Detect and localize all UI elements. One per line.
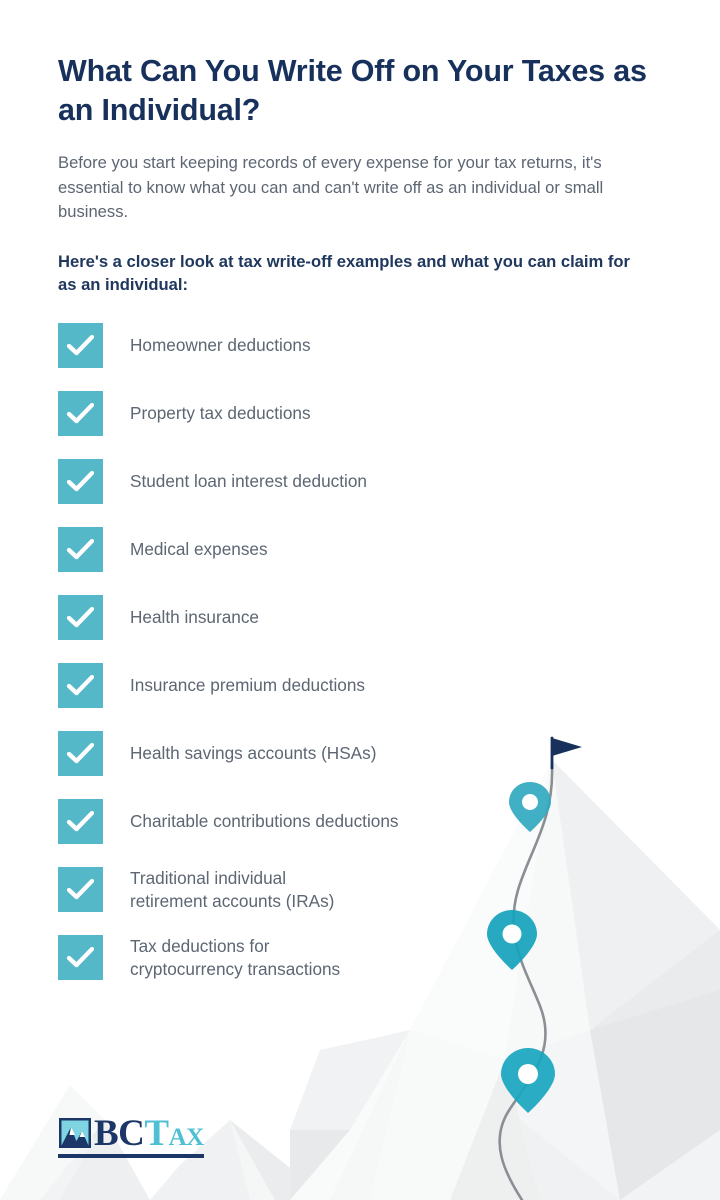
list-item: Insurance premium deductions <box>58 663 662 709</box>
check-icon <box>58 731 103 776</box>
check-icon <box>58 935 103 980</box>
list-item: Traditional individual retirement accoun… <box>58 867 662 913</box>
check-icon <box>58 323 103 368</box>
list-item-label: Traditional individual retirement accoun… <box>130 867 334 913</box>
list-item-label: Medical expenses <box>130 538 268 561</box>
list-item-label: Property tax deductions <box>130 402 311 425</box>
check-icon <box>58 527 103 572</box>
main-content: What Can You Write Off on Your Taxes as … <box>0 0 720 981</box>
check-icon <box>58 459 103 504</box>
check-icon <box>58 867 103 912</box>
check-icon <box>58 391 103 436</box>
logo-text-t: T <box>144 1116 168 1151</box>
check-icon <box>58 595 103 640</box>
page-title: What Can You Write Off on Your Taxes as … <box>58 52 662 129</box>
lead-in-text: Here's a closer look at tax write-off ex… <box>58 250 633 297</box>
list-item-label: Tax deductions for cryptocurrency transa… <box>130 935 340 981</box>
logo-text-ax: AX <box>169 1126 204 1150</box>
list-item-label: Health insurance <box>130 606 259 629</box>
list-item: Property tax deductions <box>58 391 662 437</box>
mountain-logo-icon <box>58 1117 92 1149</box>
infographic-page: What Can You Write Off on Your Taxes as … <box>0 0 720 1200</box>
list-item-label: Insurance premium deductions <box>130 674 365 697</box>
list-item: Charitable contributions deductions <box>58 799 662 845</box>
list-item: Homeowner deductions <box>58 323 662 369</box>
check-icon <box>58 663 103 708</box>
list-item: Student loan interest deduction <box>58 459 662 505</box>
list-item-label: Homeowner deductions <box>130 334 311 357</box>
list-item: Medical expenses <box>58 527 662 573</box>
list-item-label: Health savings accounts (HSAs) <box>130 742 376 765</box>
tax-writeoff-checklist: Homeowner deductions Property tax deduct… <box>58 323 662 981</box>
intro-paragraph: Before you start keeping records of ever… <box>58 151 638 224</box>
map-pin-icon <box>501 1048 555 1113</box>
check-icon <box>58 799 103 844</box>
logo-underline <box>58 1154 204 1158</box>
logo-text-bc: BC <box>94 1116 144 1151</box>
list-item-label: Charitable contributions deductions <box>130 810 398 833</box>
list-item-label: Student loan interest deduction <box>130 470 367 493</box>
list-item: Tax deductions for cryptocurrency transa… <box>58 935 662 981</box>
bctax-logo[interactable]: BCTAX <box>58 1116 204 1158</box>
list-item: Health savings accounts (HSAs) <box>58 731 662 777</box>
list-item: Health insurance <box>58 595 662 641</box>
